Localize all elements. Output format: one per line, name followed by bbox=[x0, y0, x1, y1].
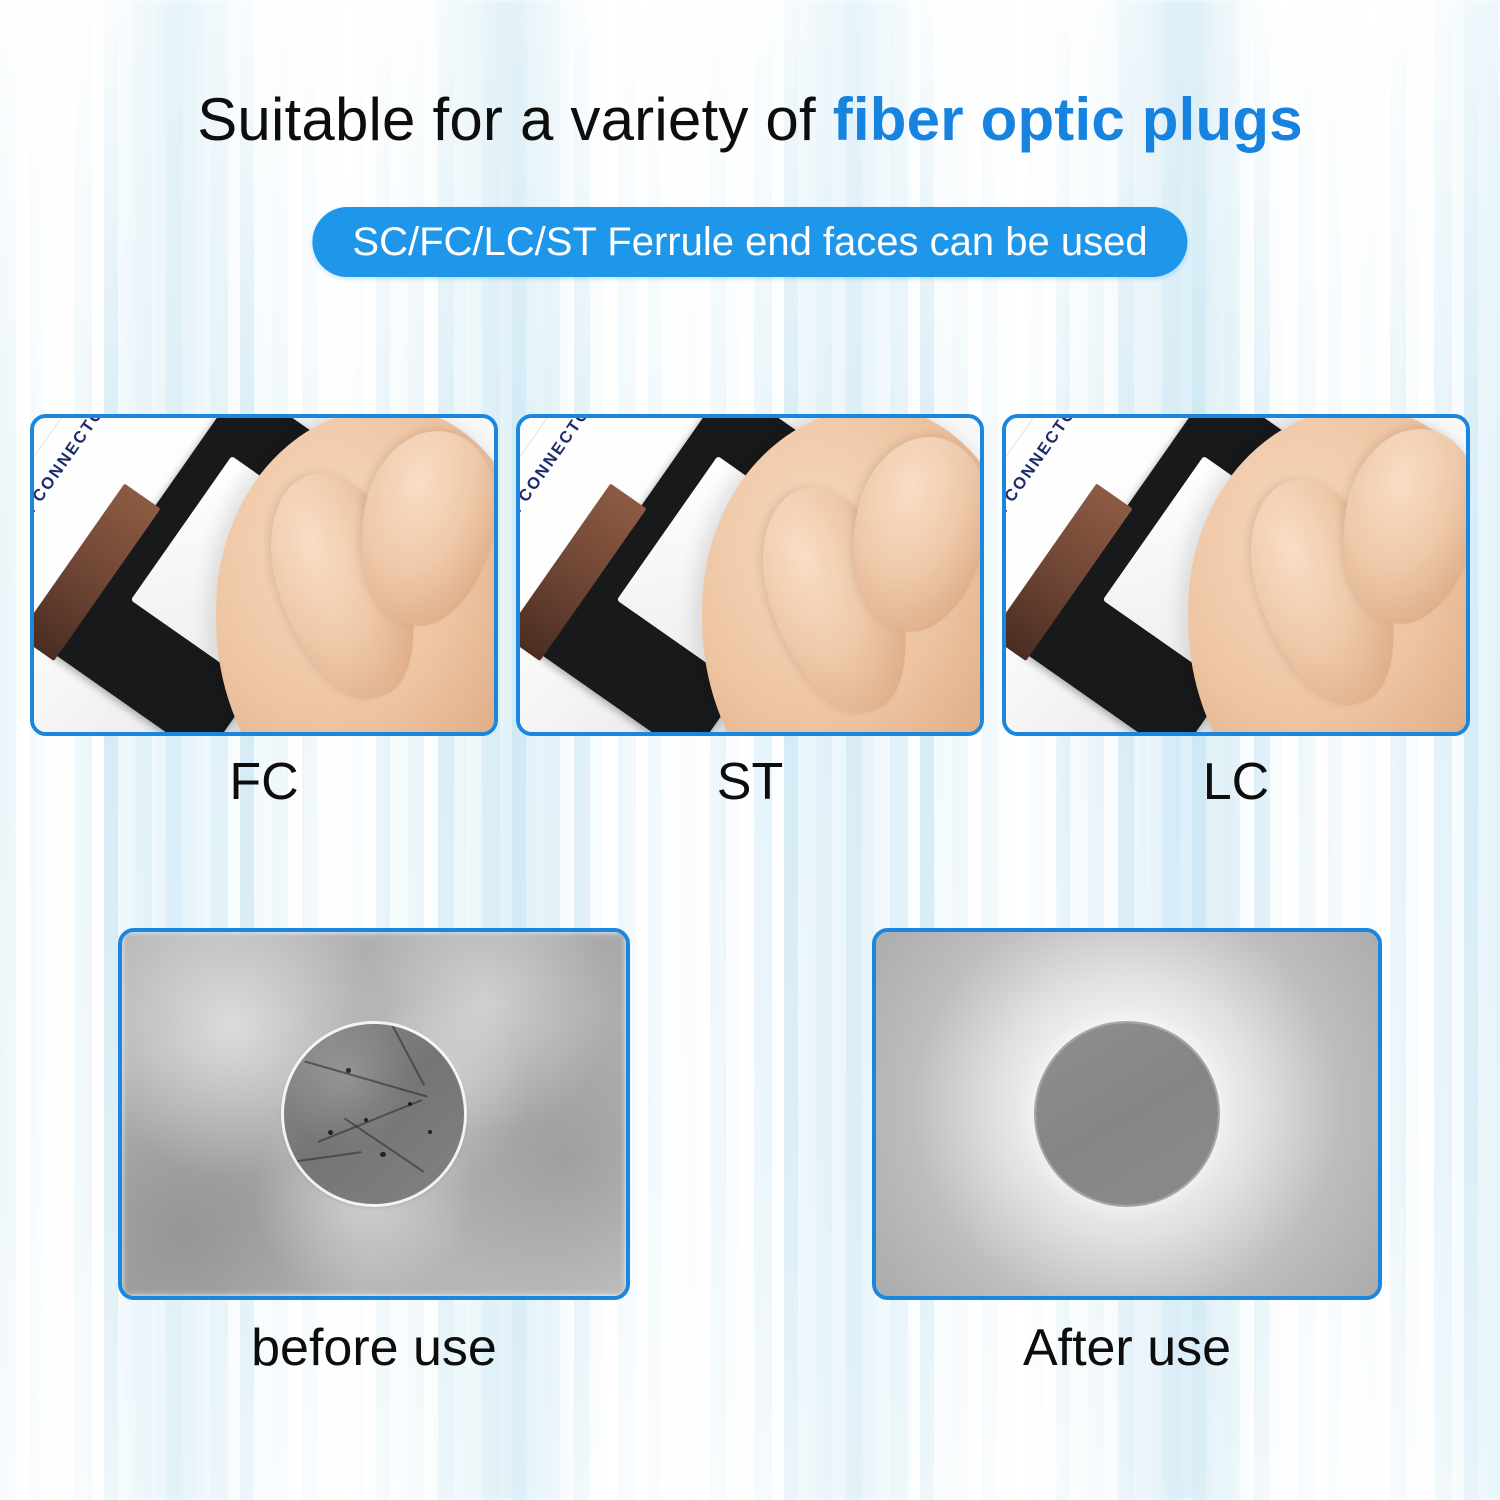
caption-before-use: before use bbox=[118, 1318, 630, 1378]
debris-speck bbox=[428, 1130, 432, 1134]
device-yellow-label bbox=[34, 685, 69, 732]
comparison-panel-before bbox=[118, 928, 630, 1300]
up-right-arrow-icon bbox=[34, 709, 40, 732]
connector-photo-panel-lc: OPTICAL CONNECTOR CLEANER FIBER OPTIC bbox=[1002, 414, 1470, 736]
subtitle-pill: SC/FC/LC/ST Ferrule end faces can be use… bbox=[312, 207, 1187, 277]
comparison-panel-after bbox=[872, 928, 1382, 1300]
debris-speck bbox=[380, 1152, 386, 1157]
cleaning-tape-strip bbox=[1006, 483, 1133, 661]
scratch-mark bbox=[292, 1151, 362, 1163]
caption-fc: FC bbox=[30, 752, 498, 812]
device-yellow-label bbox=[1006, 685, 1041, 732]
up-right-arrow-icon bbox=[520, 709, 526, 732]
infographic-root: Suitable for a variety of fiber optic pl… bbox=[0, 0, 1500, 1500]
ferrule-end-face-dirty bbox=[284, 1024, 464, 1204]
caption-lc: LC bbox=[1002, 752, 1470, 812]
cleaning-tape-strip bbox=[34, 483, 161, 661]
device-yellow-label bbox=[520, 685, 555, 732]
page-title: Suitable for a variety of fiber optic pl… bbox=[0, 88, 1500, 151]
photo-fc: OPTICAL CONNECTOR CLEANER FIBER OPTIC bbox=[34, 418, 494, 732]
debris-speck bbox=[346, 1068, 351, 1073]
scratch-mark bbox=[344, 1117, 425, 1172]
headline-accent-text: fiber optic plugs bbox=[833, 86, 1303, 153]
caption-st: ST bbox=[516, 752, 984, 812]
photo-st: OPTICAL CONNECTOR CLEANER FIBER OPTIC bbox=[520, 418, 980, 732]
headline-plain-text: Suitable for a variety of bbox=[197, 86, 833, 153]
up-right-arrow-icon bbox=[1006, 709, 1012, 732]
caption-after-use: After use bbox=[872, 1318, 1382, 1378]
connector-photo-panel-st: OPTICAL CONNECTOR CLEANER FIBER OPTIC bbox=[516, 414, 984, 736]
debris-speck bbox=[328, 1130, 333, 1135]
connector-photo-panel-fc: OPTICAL CONNECTOR CLEANER FIBER OPTIC bbox=[30, 414, 498, 736]
cleaning-tape-strip bbox=[520, 483, 647, 661]
photo-lc: OPTICAL CONNECTOR CLEANER FIBER OPTIC bbox=[1006, 418, 1466, 732]
scratch-mark bbox=[304, 1060, 428, 1097]
ferrule-end-face-clean bbox=[1036, 1023, 1218, 1205]
debris-speck bbox=[364, 1118, 368, 1122]
subtitle-pill-label: SC/FC/LC/ST Ferrule end faces can be use… bbox=[352, 220, 1147, 265]
debris-speck bbox=[408, 1102, 412, 1106]
